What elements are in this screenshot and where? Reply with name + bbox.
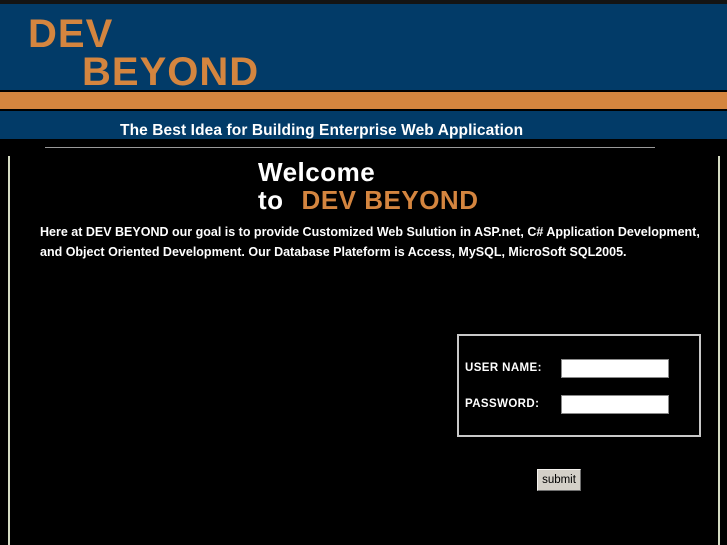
site-header: DEV BEYOND [0,4,727,90]
logo-text-dev: DEV [28,14,113,54]
site-tagline: The Best Idea for Building Enterprise We… [120,116,620,145]
content-frame-right-border [718,156,720,545]
content-frame-left-border [8,156,10,545]
username-input[interactable] [561,359,669,378]
welcome-heading-line1: Welcome [258,158,678,186]
welcome-heading: Welcome toDEV BEYOND [258,158,678,214]
horizontal-rule [45,147,655,148]
welcome-heading-to: to [258,185,284,215]
logo-text-beyond: BEYOND [82,52,259,90]
username-label: USER NAME: [465,362,561,374]
welcome-heading-line2: toDEV BEYOND [258,186,678,214]
login-form: USER NAME: PASSWORD: [457,334,701,437]
password-row: PASSWORD: [459,393,699,415]
intro-paragraph: Here at DEV BEYOND our goal is to provid… [40,222,718,262]
welcome-heading-brand: DEV BEYOND [302,185,479,215]
submit-button[interactable]: submit [537,469,581,491]
password-label: PASSWORD: [465,398,561,410]
username-row: USER NAME: [459,357,699,379]
password-input[interactable] [561,395,669,414]
orange-divider-bar [0,92,727,109]
